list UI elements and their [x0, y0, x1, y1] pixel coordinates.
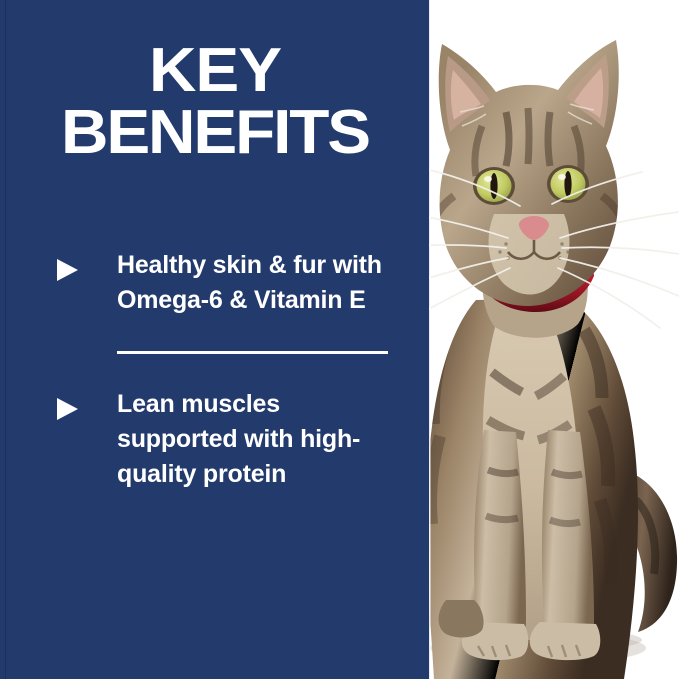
divider-rule	[117, 351, 393, 354]
benefits-list: Healthy skin & fur with Omega-6 & Vitami…	[0, 248, 430, 492]
cat-photo	[388, 0, 679, 679]
infographic-panel: KEY BENEFITS Healthy skin & fur with Ome…	[0, 0, 679, 679]
benefit-text: Healthy skin & fur with Omega-6 & Vitami…	[117, 248, 406, 318]
benefit-text: Lean muscles supported with high-quality…	[117, 387, 406, 492]
page-title-line-2: BENEFITS	[0, 102, 443, 164]
list-item: Lean muscles supported with high-quality…	[0, 387, 430, 492]
list-item: Healthy skin & fur with Omega-6 & Vitami…	[0, 248, 430, 318]
triangle-right-icon	[57, 259, 78, 281]
divider	[0, 318, 430, 387]
page-title-line-1: KEY	[0, 40, 443, 102]
triangle-right-icon	[57, 398, 78, 420]
page-title: KEY BENEFITS	[0, 40, 443, 164]
